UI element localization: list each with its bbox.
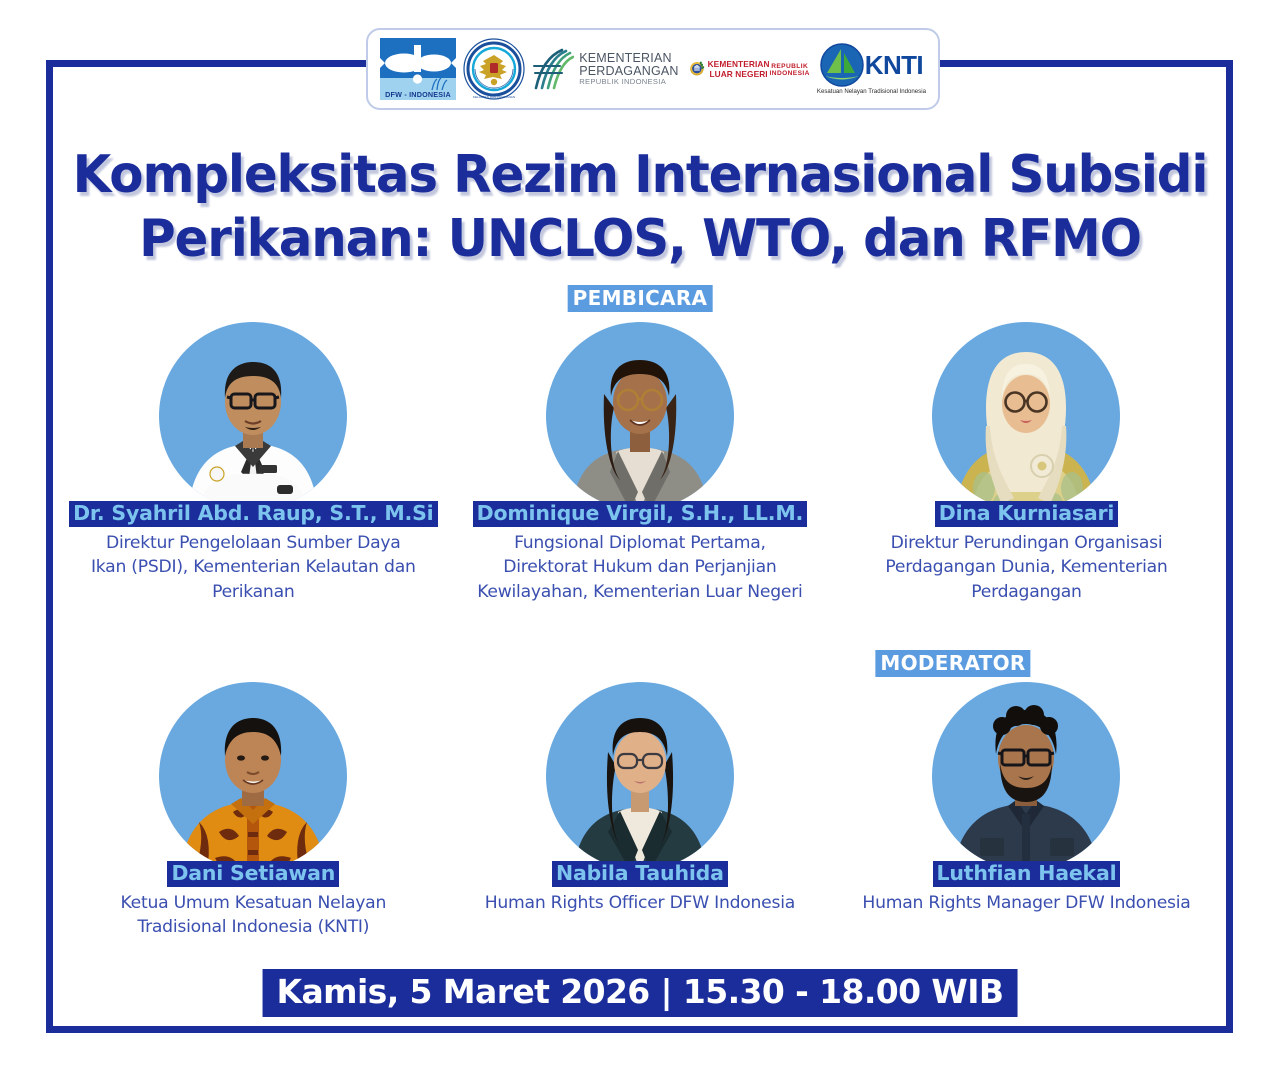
- section-label-pembicara: PEMBICARA: [568, 285, 713, 312]
- page-title-line2: Perikanan: UNCLOS, WTO, dan RFMO: [26, 207, 1255, 271]
- kemlu-line1: KEMENTERIAN LUAR NEGERI: [708, 59, 770, 79]
- speaker-role: Fungsional Diplomat Pertama, Direktorat …: [475, 531, 805, 604]
- kementerian-luar-negeri-logo: KEMENTERIAN LUAR NEGERI REPUBLIK INDONES…: [686, 46, 810, 92]
- speaker-card: Dani Setiawan Ketua Umum Kesatuan Nelaya…: [60, 682, 447, 940]
- portrait-nabila-tauhida: [546, 682, 734, 870]
- portrait-luthfian-haekal: [932, 682, 1120, 870]
- kemendag-line3: REPUBLIK INDONESIA: [579, 78, 678, 86]
- speaker-card: Dominique Virgil, S.H., LL.M. Fungsional…: [447, 322, 834, 604]
- speaker-name: Dina Kurniasari: [935, 501, 1118, 527]
- speaker-name: Luthfian Haekal: [933, 861, 1121, 887]
- speaker-name: Nabila Tauhida: [552, 861, 728, 887]
- portrait-dina-kurniasari: [932, 322, 1120, 510]
- speakers-row-top: Dr. Syahril Abd. Raup, S.T., M.Si Direkt…: [60, 322, 1220, 604]
- kemlu-emblem-icon: [686, 46, 708, 92]
- portrait-dani-setiawan: [159, 682, 347, 870]
- speaker-card: Luthfian Haekal Human Rights Manager DFW…: [833, 682, 1220, 940]
- portrait-syahril-abd-raup: [159, 322, 347, 510]
- speaker-card: Dr. Syahril Abd. Raup, S.T., M.Si Direkt…: [60, 322, 447, 604]
- dfw-indonesia-logo: DFW - INDONESIA: [380, 38, 456, 100]
- speaker-name: Dominique Virgil, S.H., LL.M.: [473, 501, 807, 527]
- kemendag-mark-icon: [532, 46, 574, 92]
- knti-wordmark: KNTI: [865, 50, 923, 81]
- dfw-indonesia-logo-label: DFW - INDONESIA: [380, 90, 456, 99]
- speaker-name: Dani Setiawan: [167, 861, 339, 887]
- speaker-name: Dr. Syahril Abd. Raup, S.T., M.Si: [69, 501, 437, 527]
- section-label-moderator: MODERATOR: [875, 650, 1030, 677]
- speaker-role: Direktur Pengelolaan Sumber Daya Ikan (P…: [88, 531, 418, 604]
- speaker-role: Human Rights Officer DFW Indonesia: [485, 891, 795, 915]
- page-title-line1: Kompleksitas Rezim Internasional Subsidi: [26, 143, 1255, 207]
- knti-tagline: Kesatuan Nelayan Tradisional Indonesia: [817, 88, 926, 95]
- logo-bar: DFW - INDONESIA KELAUTAN DAN PERIKANAN: [366, 28, 940, 110]
- speaker-card: Nabila Tauhida Human Rights Officer DFW …: [447, 682, 834, 940]
- speaker-role: Human Rights Manager DFW Indonesia: [862, 891, 1190, 915]
- schedule-banner: Kamis, 5 Maret 2026 | 15.30 - 18.00 WIB: [263, 969, 1018, 1017]
- knti-boat-icon: [820, 43, 864, 87]
- speaker-card: Dina Kurniasari Direktur Perundingan Org…: [833, 322, 1220, 604]
- kementerian-kelautan-dan-perikanan-logo: KELAUTAN DAN PERIKANAN: [463, 38, 525, 100]
- kementerian-perdagangan-logo: KEMENTERIAN PERDAGANGAN REPUBLIK INDONES…: [532, 46, 678, 92]
- knti-logo: KNTI Kesatuan Nelayan Tradisional Indone…: [817, 43, 926, 95]
- portrait-dominique-virgil: [546, 322, 734, 510]
- speaker-role: Ketua Umum Kesatuan Nelayan Tradisional …: [88, 891, 418, 940]
- speaker-role: Direktur Perundingan Organisasi Perdagan…: [861, 531, 1191, 604]
- kemlu-line2: REPUBLIK INDONESIA: [770, 63, 810, 77]
- page-title: Kompleksitas Rezim Internasional Subsidi…: [26, 143, 1255, 272]
- svg-text:KELAUTAN DAN PERIKANAN: KELAUTAN DAN PERIKANAN: [473, 95, 515, 99]
- speakers-row-bottom: Dani Setiawan Ketua Umum Kesatuan Nelaya…: [60, 682, 1220, 940]
